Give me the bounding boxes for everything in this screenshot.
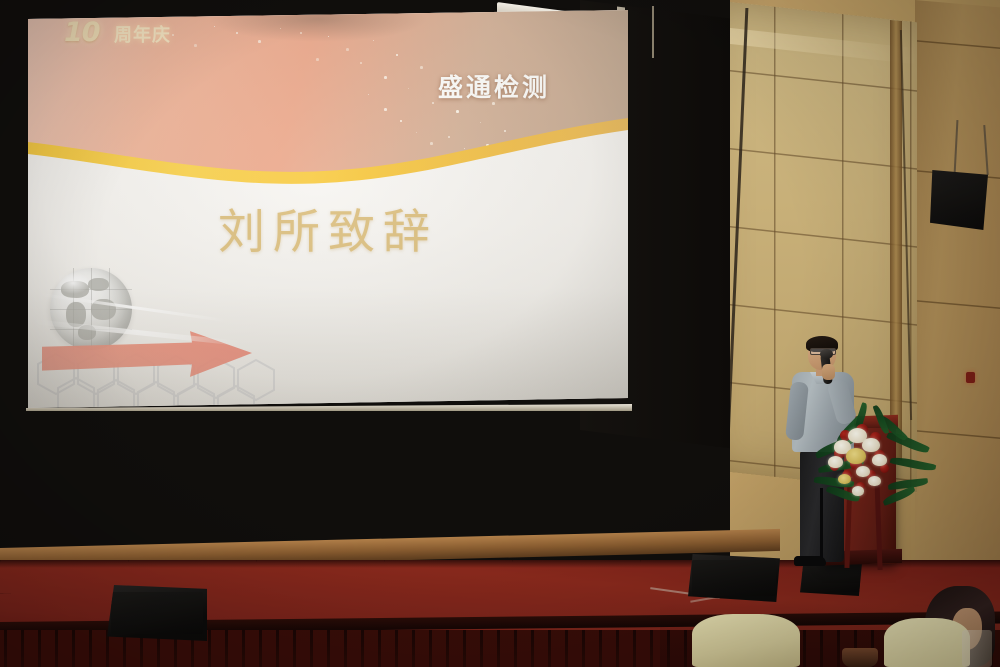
glass-icon bbox=[962, 630, 992, 667]
brass-trim-strip-secondary bbox=[890, 20, 902, 461]
anniversary-logo: 10 周年庆 bbox=[64, 15, 214, 49]
right-wall-column bbox=[915, 0, 1000, 607]
anniversary-label: 周年庆 bbox=[114, 21, 171, 47]
hanging-speaker-icon bbox=[930, 170, 988, 230]
drinking-cup-icon bbox=[842, 648, 878, 667]
fire-alarm-icon bbox=[966, 372, 975, 383]
slide-surface: 10 周年庆 盛通检测 刘所致辞 bbox=[28, 10, 628, 408]
projection-screen: 10 周年庆 盛通检测 刘所致辞 bbox=[28, 10, 628, 408]
slide-title: 刘所致辞 bbox=[28, 193, 628, 262]
floral-arrangement bbox=[812, 408, 930, 508]
chair-back-left bbox=[692, 614, 800, 667]
anniversary-number: 10 bbox=[64, 17, 100, 48]
stage-monitor-left bbox=[107, 585, 207, 641]
brand-name: 盛通检测 bbox=[438, 68, 550, 104]
stage-monitor-center bbox=[688, 554, 780, 602]
conference-hall-photo: 10 周年庆 盛通检测 刘所致辞 bbox=[0, 0, 1000, 667]
drop-cord bbox=[652, 6, 654, 58]
chair-back-right bbox=[884, 618, 970, 667]
globe-highlight bbox=[56, 272, 90, 294]
